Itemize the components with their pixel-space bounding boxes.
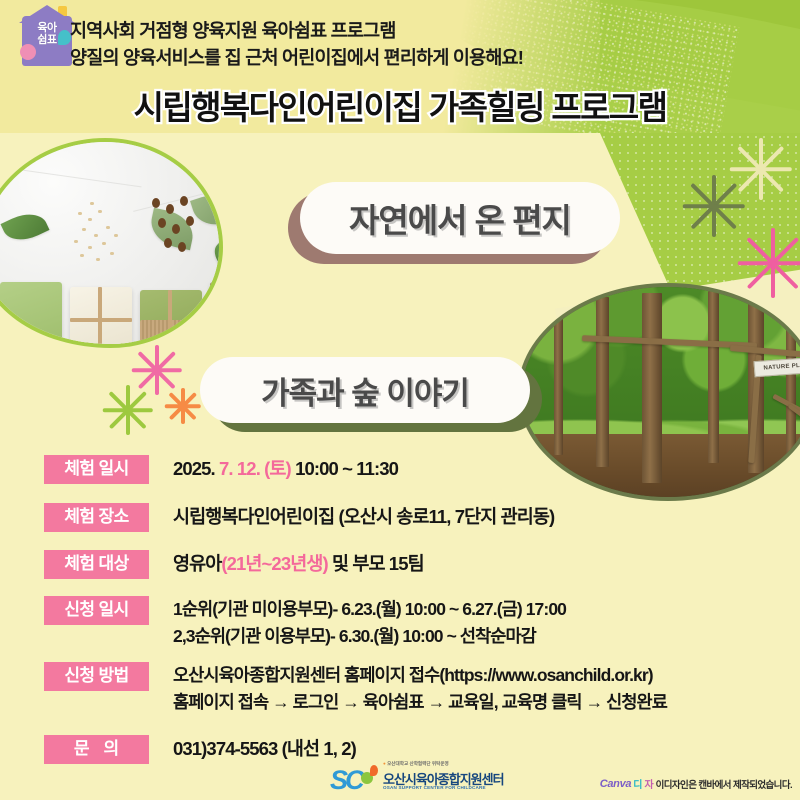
tag-application-method: 신청 방법	[44, 662, 149, 691]
canva-attribution: Canva 디 자 이디자인은 캔바에서 제작되었습니다.	[600, 776, 792, 791]
info-row-apply-method: 신청 방법 오산시육아종합지원센터 홈페이지 접수(https://www.os…	[0, 662, 800, 715]
logo-text-top: 육아	[18, 22, 76, 34]
info-row-contact: 문의 031)374-5563 (내선 1, 2)	[0, 735, 800, 764]
value-contact-phone: 031)374-5563 (내선 1, 2)	[173, 735, 800, 763]
tag-experience-place: 체험 장소	[44, 503, 149, 532]
canva-glyph-1: 디	[633, 776, 642, 791]
apply-priority-23: 2,3순위(기관 이용부모)- 6.30.(월) 10:00 ~ 선착순마감	[173, 623, 800, 650]
target-parents: 및 부모 15팀	[328, 553, 424, 574]
soap-bar-green	[0, 282, 62, 348]
asterisk-green-left-icon	[103, 385, 153, 435]
apply-website-url[interactable]: 오산시육아종합지원센터 홈페이지 접수(https://www.osanchil…	[173, 662, 800, 689]
osan-childcare-center-logo: SC ● 오산대학교 산학협력단 위탁운영 오산시육아종합지원센터 OSAN S…	[330, 761, 495, 797]
tag-application-date: 신청 일시	[44, 596, 149, 625]
center-logo-orange-dot-icon	[370, 765, 378, 776]
page-title: 시립행복다인어린이집 가족힐링 프로그램	[0, 81, 800, 129]
canva-note-text: 이디자인은 캔바에서 제작되었습니다.	[656, 777, 792, 791]
center-logo-mark: SC	[330, 767, 362, 794]
value-experience-place: 시립행복다인어린이집 (오산시 송로11, 7단지 관리동)	[173, 503, 800, 531]
header-subtitle-line2: 양질의 양육서비스를 집 근처 어린이집에서 편리하게 이용해요!	[70, 44, 523, 70]
asterisk-olive-icon	[683, 175, 745, 237]
tag-experience-target: 체험 대상	[44, 550, 149, 579]
info-row-apply-date: 신청 일시 1순위(기관 미이용부모)- 6.23.(월) 10:00 ~ 6.…	[0, 596, 800, 649]
apply-steps: 홈페이지 접속 → 로그인 → 육아쉼표 → 교육일, 교육명 클릭 → 신청완…	[173, 689, 800, 716]
header-subtitle-line1: 지역사회 거점형 양육지원 육아쉼표 프로그램	[70, 17, 396, 43]
nature-play-sign: NATURE PLAY	[754, 357, 800, 377]
date-time: 10:00 ~ 11:30	[291, 458, 398, 479]
tag-contact: 문의	[44, 735, 149, 764]
info-row-date: 체험 일시 2025. 7. 12. (토) 10:00 ~ 11:30	[0, 455, 800, 484]
value-experience-target: 영유아(21년~23년생) 및 부모 15팀	[173, 550, 800, 578]
handmade-soap-photo	[0, 138, 223, 348]
logo-pink-dot-icon	[20, 44, 36, 60]
canva-brand: Canva	[600, 778, 632, 790]
value-application-method: 오산시육아종합지원센터 홈페이지 접수(https://www.osanchil…	[173, 662, 800, 715]
date-year: 2025.	[173, 458, 219, 479]
info-row-target: 체험 대상 영유아(21년~23년생) 및 부모 15팀	[0, 550, 800, 579]
asterisk-orange-left-icon	[165, 388, 201, 424]
value-experience-date: 2025. 7. 12. (토) 10:00 ~ 11:30	[173, 455, 800, 483]
poster-footer: SC ● 오산대학교 산학협력단 위탁운영 오산시육아종합지원센터 OSAN S…	[0, 760, 800, 800]
poster-root: 육아 쉼표 지역사회 거점형 양육지원 육아쉼표 프로그램 양질의 양육서비스를…	[0, 0, 800, 800]
target-age-group: 영유아	[173, 553, 221, 574]
canva-glyph-2: 자	[644, 776, 653, 791]
logo-text: 육아 쉼표	[18, 22, 76, 46]
date-day: 7. 12. (토)	[219, 458, 291, 479]
center-logo-english: OSAN SUPPORT CENTER FOR CHILDCARE	[383, 785, 486, 790]
tag-experience-date: 체험 일시	[44, 455, 149, 484]
apply-priority-1: 1순위(기관 미이용부모)- 6.23.(월) 10:00 ~ 6.27.(금)…	[173, 596, 800, 623]
target-birth-years: (21년~23년생)	[221, 553, 327, 574]
badge-letter-from-nature: 자연에서 온 편지	[300, 182, 620, 254]
logo-text-bottom: 쉼표	[18, 34, 76, 46]
yukasimpyo-logo: 육아 쉼표	[18, 8, 76, 70]
badge-family-forest-story: 가족과 숲 이야기	[200, 357, 530, 423]
value-application-date: 1순위(기관 미이용부모)- 6.23.(월) 10:00 ~ 6.27.(금)…	[173, 596, 800, 649]
info-row-place: 체험 장소 시립행복다인어린이집 (오산시 송로11, 7단지 관리동)	[0, 503, 800, 532]
